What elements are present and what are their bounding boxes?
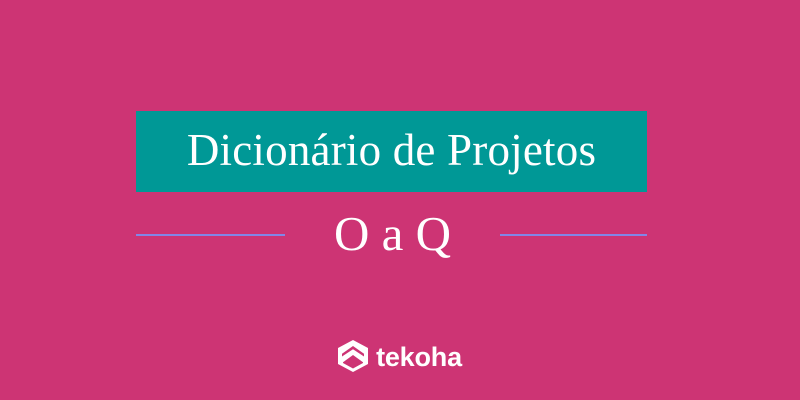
tekoha-hexagon-icon xyxy=(338,340,368,372)
title-banner: Dicionário de Projetos xyxy=(136,111,647,192)
page-title: Dicionário de Projetos xyxy=(187,128,596,173)
divider-rule-left xyxy=(136,234,285,236)
divider-rule-right xyxy=(500,234,647,236)
logo-wordmark: tekoha xyxy=(376,344,462,371)
title-slide: Dicionário de Projetos O a Q tekoha xyxy=(0,0,800,400)
subtitle-row: O a Q xyxy=(136,200,647,270)
brand-logo: tekoha xyxy=(0,338,800,374)
subtitle: O a Q xyxy=(320,209,465,258)
